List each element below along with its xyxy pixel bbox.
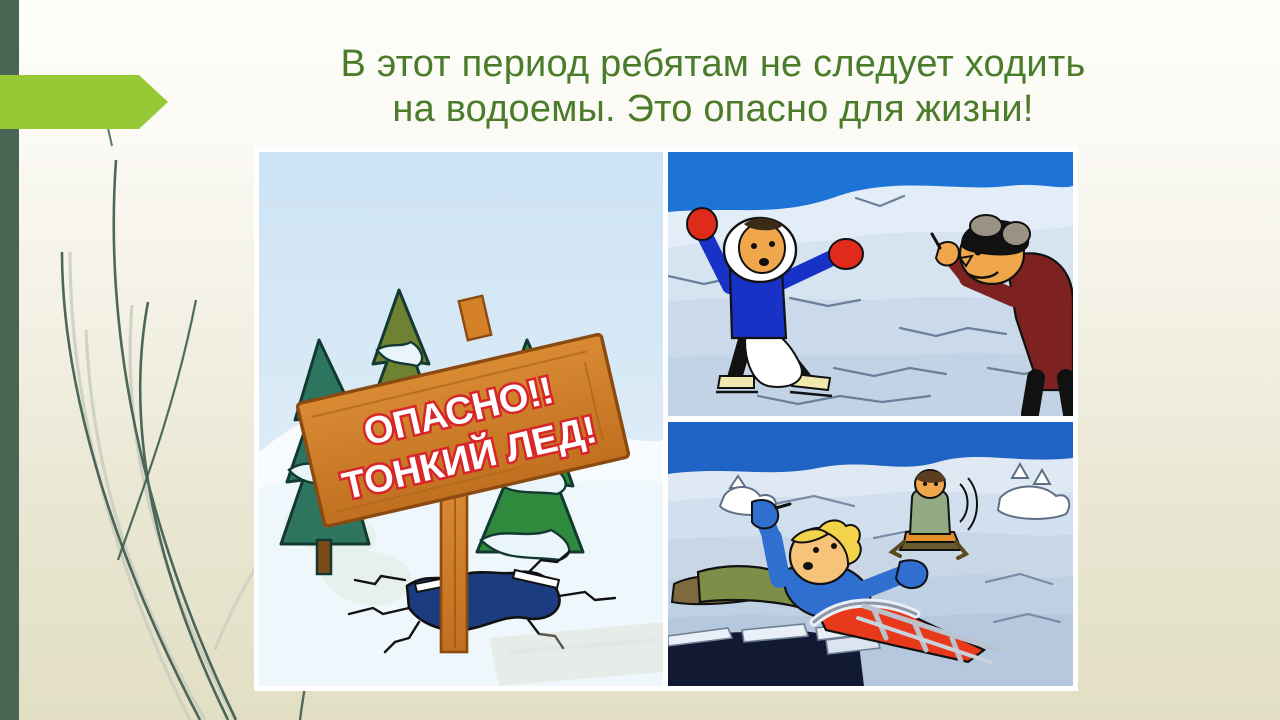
mitten-right — [829, 239, 863, 269]
skate-left — [718, 376, 754, 388]
illustration-boy-fallen-through-ice — [668, 422, 1073, 686]
sign-post — [441, 482, 467, 652]
page-title: В этот период ребятам не следует ходить … — [218, 42, 1208, 132]
lime-chevron-arrow — [0, 75, 168, 129]
right-illustration-column — [668, 152, 1073, 686]
illustration-skating-child-and-adult — [668, 152, 1073, 416]
mitten-forward — [896, 560, 927, 588]
mitten-raised — [752, 500, 778, 528]
winter-ice-safety-illustrations: ОПАСНО!! ТОНКИЙ ЛЕД! — [254, 147, 1078, 691]
mitten-left — [687, 208, 717, 240]
title-line-1: В этот период ребятам не следует ходить — [218, 42, 1208, 87]
title-line-2: на водоемы. Это опасно для жизни! — [218, 87, 1208, 132]
illustration-warning-sign: ОПАСНО!! ТОНКИЙ ЛЕД! — [259, 152, 663, 686]
